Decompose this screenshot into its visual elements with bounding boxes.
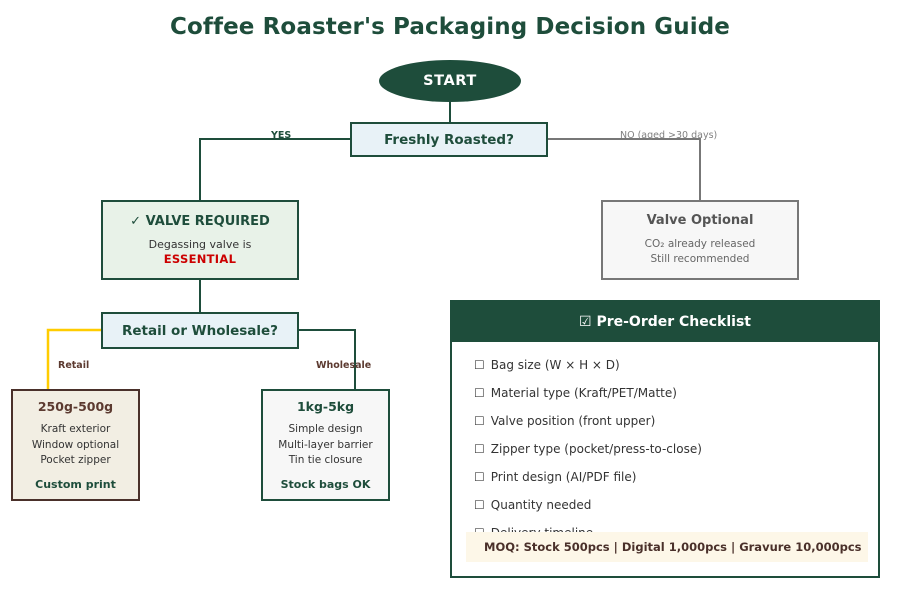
checkbox-unchecked-icon[interactable]: ☐	[474, 498, 485, 512]
node-retail-or-wholesale-label: Retail or Wholesale?	[122, 323, 278, 339]
retail-spec-line3: Pocket zipper	[40, 453, 110, 469]
checklist-header: ☑ Pre-Order Checklist	[452, 302, 878, 342]
edge-label-yes: YES	[271, 130, 291, 141]
checklist-item-label: Zipper type (pocket/press-to-close)	[491, 442, 702, 456]
checkbox-unchecked-icon[interactable]: ☐	[474, 470, 485, 484]
checklist-item[interactable]: ☐Valve position (front upper)	[474, 414, 878, 428]
checkbox-unchecked-icon[interactable]: ☐	[474, 358, 485, 372]
checkbox-unchecked-icon[interactable]: ☐	[474, 414, 485, 428]
node-retail-or-wholesale[interactable]: Retail or Wholesale?	[101, 312, 299, 349]
node-freshly-roasted-label: Freshly Roasted?	[384, 132, 514, 148]
node-freshly-roasted[interactable]: Freshly Roasted?	[350, 122, 548, 157]
checklist-item[interactable]: ☐Quantity needed	[474, 498, 878, 512]
wholesale-spec-line2: Multi-layer barrier	[278, 438, 372, 454]
valve-optional-heading: Valve Optional	[647, 213, 754, 228]
wholesale-spec-line1: Simple design	[288, 422, 362, 438]
retail-spec-heading: 250g-500g	[38, 399, 113, 414]
node-valve-optional[interactable]: Valve Optional CO₂ already released Stil…	[601, 200, 799, 280]
edge-label-retail: Retail	[58, 360, 89, 371]
pre-order-checklist-panel: ☑ Pre-Order Checklist ☐Bag size (W × H ×…	[450, 300, 880, 578]
page-title: Coffee Roaster's Packaging Decision Guid…	[0, 14, 900, 40]
wholesale-spec-heading: 1kg-5kg	[297, 399, 354, 414]
checklist-item-label: Valve position (front upper)	[491, 414, 656, 428]
edge-label-no: NO (aged >30 days)	[620, 130, 717, 141]
moq-note: MOQ: Stock 500pcs | Digital 1,000pcs | G…	[466, 532, 868, 562]
diagram-canvas: Coffee Roaster's Packaging Decision Guid…	[0, 0, 900, 600]
valve-required-heading: ✓ VALVE REQUIRED	[130, 214, 270, 229]
edge-label-wholesale: Wholesale	[316, 360, 371, 371]
node-valve-required[interactable]: ✓ VALVE REQUIRED Degassing valve is ESSE…	[101, 200, 299, 280]
checkbox-unchecked-icon[interactable]: ☐	[474, 386, 485, 400]
checklist-item-label: Quantity needed	[491, 498, 592, 512]
node-wholesale-spec[interactable]: 1kg-5kg Simple design Multi-layer barrie…	[261, 389, 390, 501]
checkbox-unchecked-icon[interactable]: ☐	[474, 442, 485, 456]
checklist-item[interactable]: ☐Bag size (W × H × D)	[474, 358, 878, 372]
checklist-item[interactable]: ☐Material type (Kraft/PET/Matte)	[474, 386, 878, 400]
retail-spec-emphasis: Custom print	[35, 478, 116, 491]
wholesale-spec-emphasis: Stock bags OK	[281, 478, 371, 491]
valve-required-line1: Degassing valve is	[149, 238, 252, 253]
node-start[interactable]: START	[379, 60, 521, 102]
valve-optional-line1: CO₂ already released	[645, 237, 756, 252]
valve-optional-line2: Still recommended	[651, 252, 750, 267]
valve-required-emphasis: ESSENTIAL	[164, 252, 236, 266]
checklist-item-label: Material type (Kraft/PET/Matte)	[491, 386, 677, 400]
checklist-item[interactable]: ☐Print design (AI/PDF file)	[474, 470, 878, 484]
node-start-label: START	[423, 73, 477, 89]
checklist-item[interactable]: ☐Zipper type (pocket/press-to-close)	[474, 442, 878, 456]
checklist-header-label: ☑ Pre-Order Checklist	[579, 314, 751, 330]
checklist-item-label: Bag size (W × H × D)	[491, 358, 620, 372]
checklist-items: ☐Bag size (W × H × D)☐Material type (Kra…	[452, 342, 878, 540]
checklist-item-label: Print design (AI/PDF file)	[491, 470, 637, 484]
retail-spec-line2: Window optional	[32, 438, 119, 454]
moq-note-label: MOQ: Stock 500pcs | Digital 1,000pcs | G…	[484, 540, 862, 554]
node-retail-spec[interactable]: 250g-500g Kraft exterior Window optional…	[11, 389, 140, 501]
wholesale-spec-line3: Tin tie closure	[289, 453, 363, 469]
retail-spec-line1: Kraft exterior	[41, 422, 111, 438]
